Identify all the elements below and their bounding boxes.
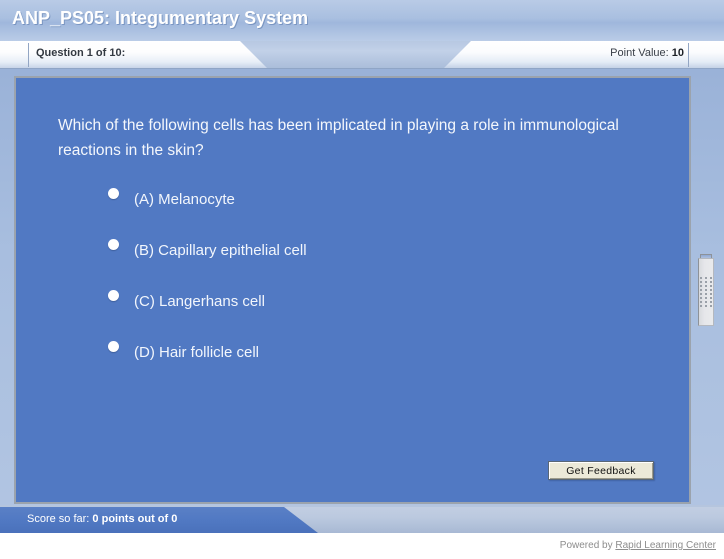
bullet-icon xyxy=(108,341,119,352)
powered-by-label: Powered by xyxy=(560,540,613,551)
question-bar-divider-left xyxy=(28,43,29,67)
point-value: Point Value: 10 xyxy=(610,47,684,59)
question-bar-divider-right xyxy=(688,43,689,67)
question-panel: Which of the following cells has been im… xyxy=(14,76,691,504)
question-text: Which of the following cells has been im… xyxy=(58,113,643,163)
page-title: ANP_PS05: Integumentary System xyxy=(12,8,308,29)
question-info-bar: Question 1 of 10: Point Value: 10 xyxy=(0,41,724,69)
answer-choice-label: (A) Melanocyte xyxy=(134,191,235,208)
grip-dots-icon xyxy=(700,277,712,307)
score-bar: Score so far: 0 points out of 0 xyxy=(0,505,724,533)
bullet-icon xyxy=(108,239,119,250)
point-value-label: Point Value: xyxy=(610,47,669,59)
panel-resize-handle[interactable] xyxy=(698,258,714,326)
title-bar: ANP_PS05: Integumentary System xyxy=(0,0,724,41)
answer-choice-label: (B) Capillary epithelial cell xyxy=(134,242,307,259)
answer-choice[interactable]: (D) Hair follicle cell xyxy=(84,335,644,386)
answer-choice[interactable]: (B) Capillary epithelial cell xyxy=(84,233,644,284)
bullet-icon xyxy=(108,188,119,199)
bullet-icon xyxy=(108,290,119,301)
answer-choice-label: (D) Hair follicle cell xyxy=(134,344,259,361)
answer-choice-list: (A) Melanocyte (B) Capillary epithelial … xyxy=(84,182,644,386)
quiz-application: ANP_PS05: Integumentary System Question … xyxy=(0,0,724,559)
score-text: Score so far: 0 points out of 0 xyxy=(27,513,177,525)
score-value: 0 points out of 0 xyxy=(92,513,177,525)
rapid-learning-center-link[interactable]: Rapid Learning Center xyxy=(615,540,716,551)
question-panel-inner: Which of the following cells has been im… xyxy=(16,78,689,502)
footer: Powered by Rapid Learning Center xyxy=(0,533,724,559)
powered-by-text: Powered by Rapid Learning Center xyxy=(560,540,716,551)
point-value-number: 10 xyxy=(672,47,684,59)
answer-choice[interactable]: (C) Langerhans cell xyxy=(84,284,644,335)
score-label: Score so far: xyxy=(27,513,89,525)
get-feedback-button[interactable]: Get Feedback xyxy=(548,461,654,480)
answer-choice[interactable]: (A) Melanocyte xyxy=(84,182,644,233)
question-counter: Question 1 of 10: xyxy=(36,47,125,59)
score-bar-top-line xyxy=(0,505,724,507)
answer-choice-label: (C) Langerhans cell xyxy=(134,293,265,310)
